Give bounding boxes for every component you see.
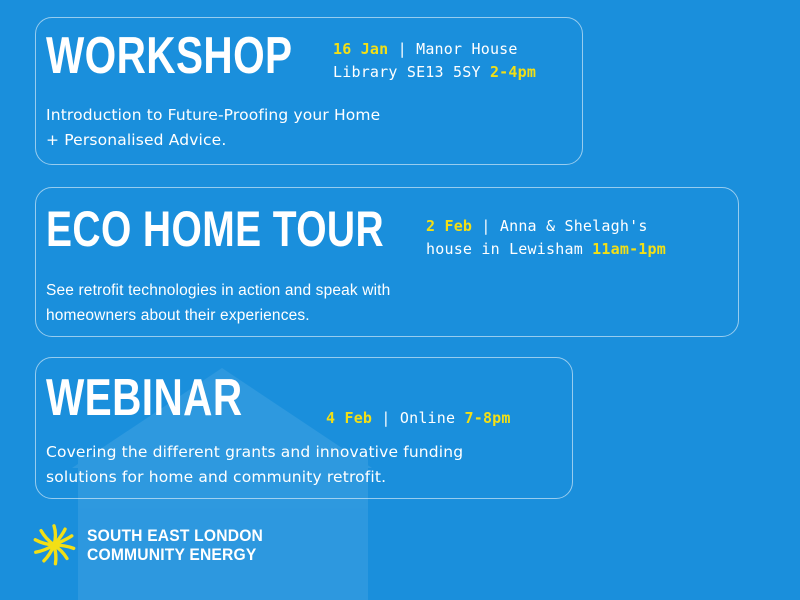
- event-description: See retrofit technologies in action and …: [46, 278, 390, 328]
- event-venue: Online: [400, 409, 465, 427]
- event-date: 4 Feb: [326, 409, 372, 427]
- event-meta-line-1: 4 Feb | Online 7-8pm: [326, 407, 511, 430]
- event-card-webinar[interactable]: WEBINAR 4 Feb | Online 7-8pm Covering th…: [35, 357, 573, 499]
- event-meta-separator: |: [472, 217, 500, 235]
- event-description: Covering the different grants and innova…: [46, 440, 463, 490]
- event-meta: 2 Feb | Anna & Shelagh's house in Lewish…: [426, 215, 666, 261]
- event-time: 7-8pm: [464, 409, 510, 427]
- event-card-workshop[interactable]: WORKSHOP 16 Jan | Manor House Library SE…: [35, 17, 583, 165]
- event-card-eco-home-tour[interactable]: ECO HOME TOUR 2 Feb | Anna & Shelagh's h…: [35, 187, 739, 337]
- event-venue-cont: house in Lewisham: [426, 240, 592, 258]
- event-meta-line-2: Library SE13 5SY 2-4pm: [333, 61, 536, 84]
- event-heading: ECO HOME TOUR: [46, 204, 384, 254]
- event-meta-line-1: 16 Jan | Manor House: [333, 38, 536, 61]
- event-venue-cont: Library SE13 5SY: [333, 63, 490, 81]
- event-poster: WORKSHOP 16 Jan | Manor House Library SE…: [0, 0, 800, 600]
- event-meta-line-1: 2 Feb | Anna & Shelagh's: [426, 215, 666, 238]
- event-date: 2 Feb: [426, 217, 472, 235]
- event-date: 16 Jan: [333, 40, 388, 58]
- organisation-logo[interactable]: SOUTH EAST LONDON COMMUNITY ENERGY: [30, 521, 278, 569]
- event-meta: 4 Feb | Online 7-8pm: [326, 407, 511, 430]
- event-meta-line-2: house in Lewisham 11am-1pm: [426, 238, 666, 261]
- sunburst-logo-icon: [30, 521, 78, 569]
- event-heading: WORKSHOP: [46, 30, 292, 82]
- event-meta: 16 Jan | Manor House Library SE13 5SY 2-…: [333, 38, 536, 84]
- event-time: 2-4pm: [490, 63, 536, 81]
- event-venue: Manor House: [416, 40, 518, 58]
- event-meta-separator: |: [372, 409, 400, 427]
- event-time: 11am-1pm: [592, 240, 666, 258]
- event-description: Introduction to Future-Proofing your Hom…: [46, 103, 380, 153]
- event-meta-separator: |: [388, 40, 416, 58]
- organisation-name: SOUTH EAST LONDON COMMUNITY ENERGY: [87, 526, 263, 564]
- event-heading: WEBINAR: [46, 372, 242, 424]
- event-venue: Anna & Shelagh's: [500, 217, 648, 235]
